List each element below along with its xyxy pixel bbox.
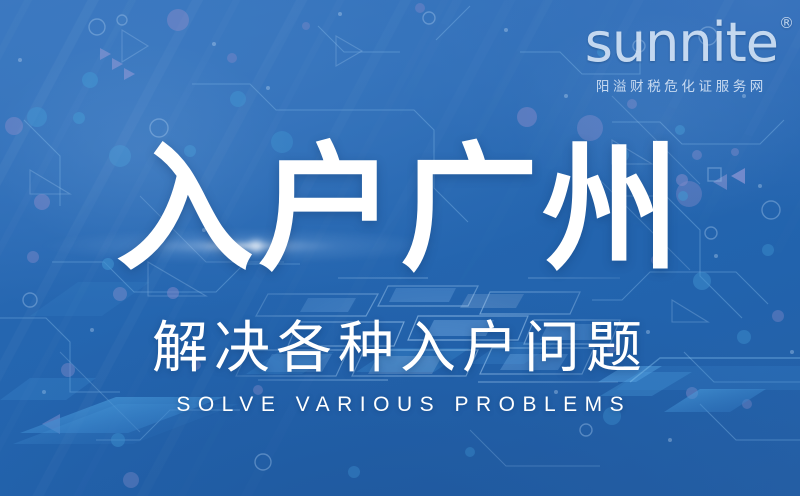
page-subtitle: 解决各种入户问题 (0, 318, 800, 380)
logo-subtitle: 阳溢财税危化证服务网 (585, 75, 778, 95)
logo-wordmark-text: sunnite (585, 11, 778, 74)
brand-logo[interactable]: sunnite ® 阳溢财税危化证服务网 (585, 18, 778, 95)
page-tagline: SOLVE VARIOUS PROBLEMS (0, 392, 800, 418)
promo-banner: sunnite ® 阳溢财税危化证服务网 入户广州 解决各种入户问题 SOLVE… (0, 0, 800, 496)
page-title: 入户广州 (0, 139, 800, 281)
registered-trademark-icon: ® (779, 16, 793, 31)
logo-wordmark: sunnite ® (585, 18, 778, 68)
